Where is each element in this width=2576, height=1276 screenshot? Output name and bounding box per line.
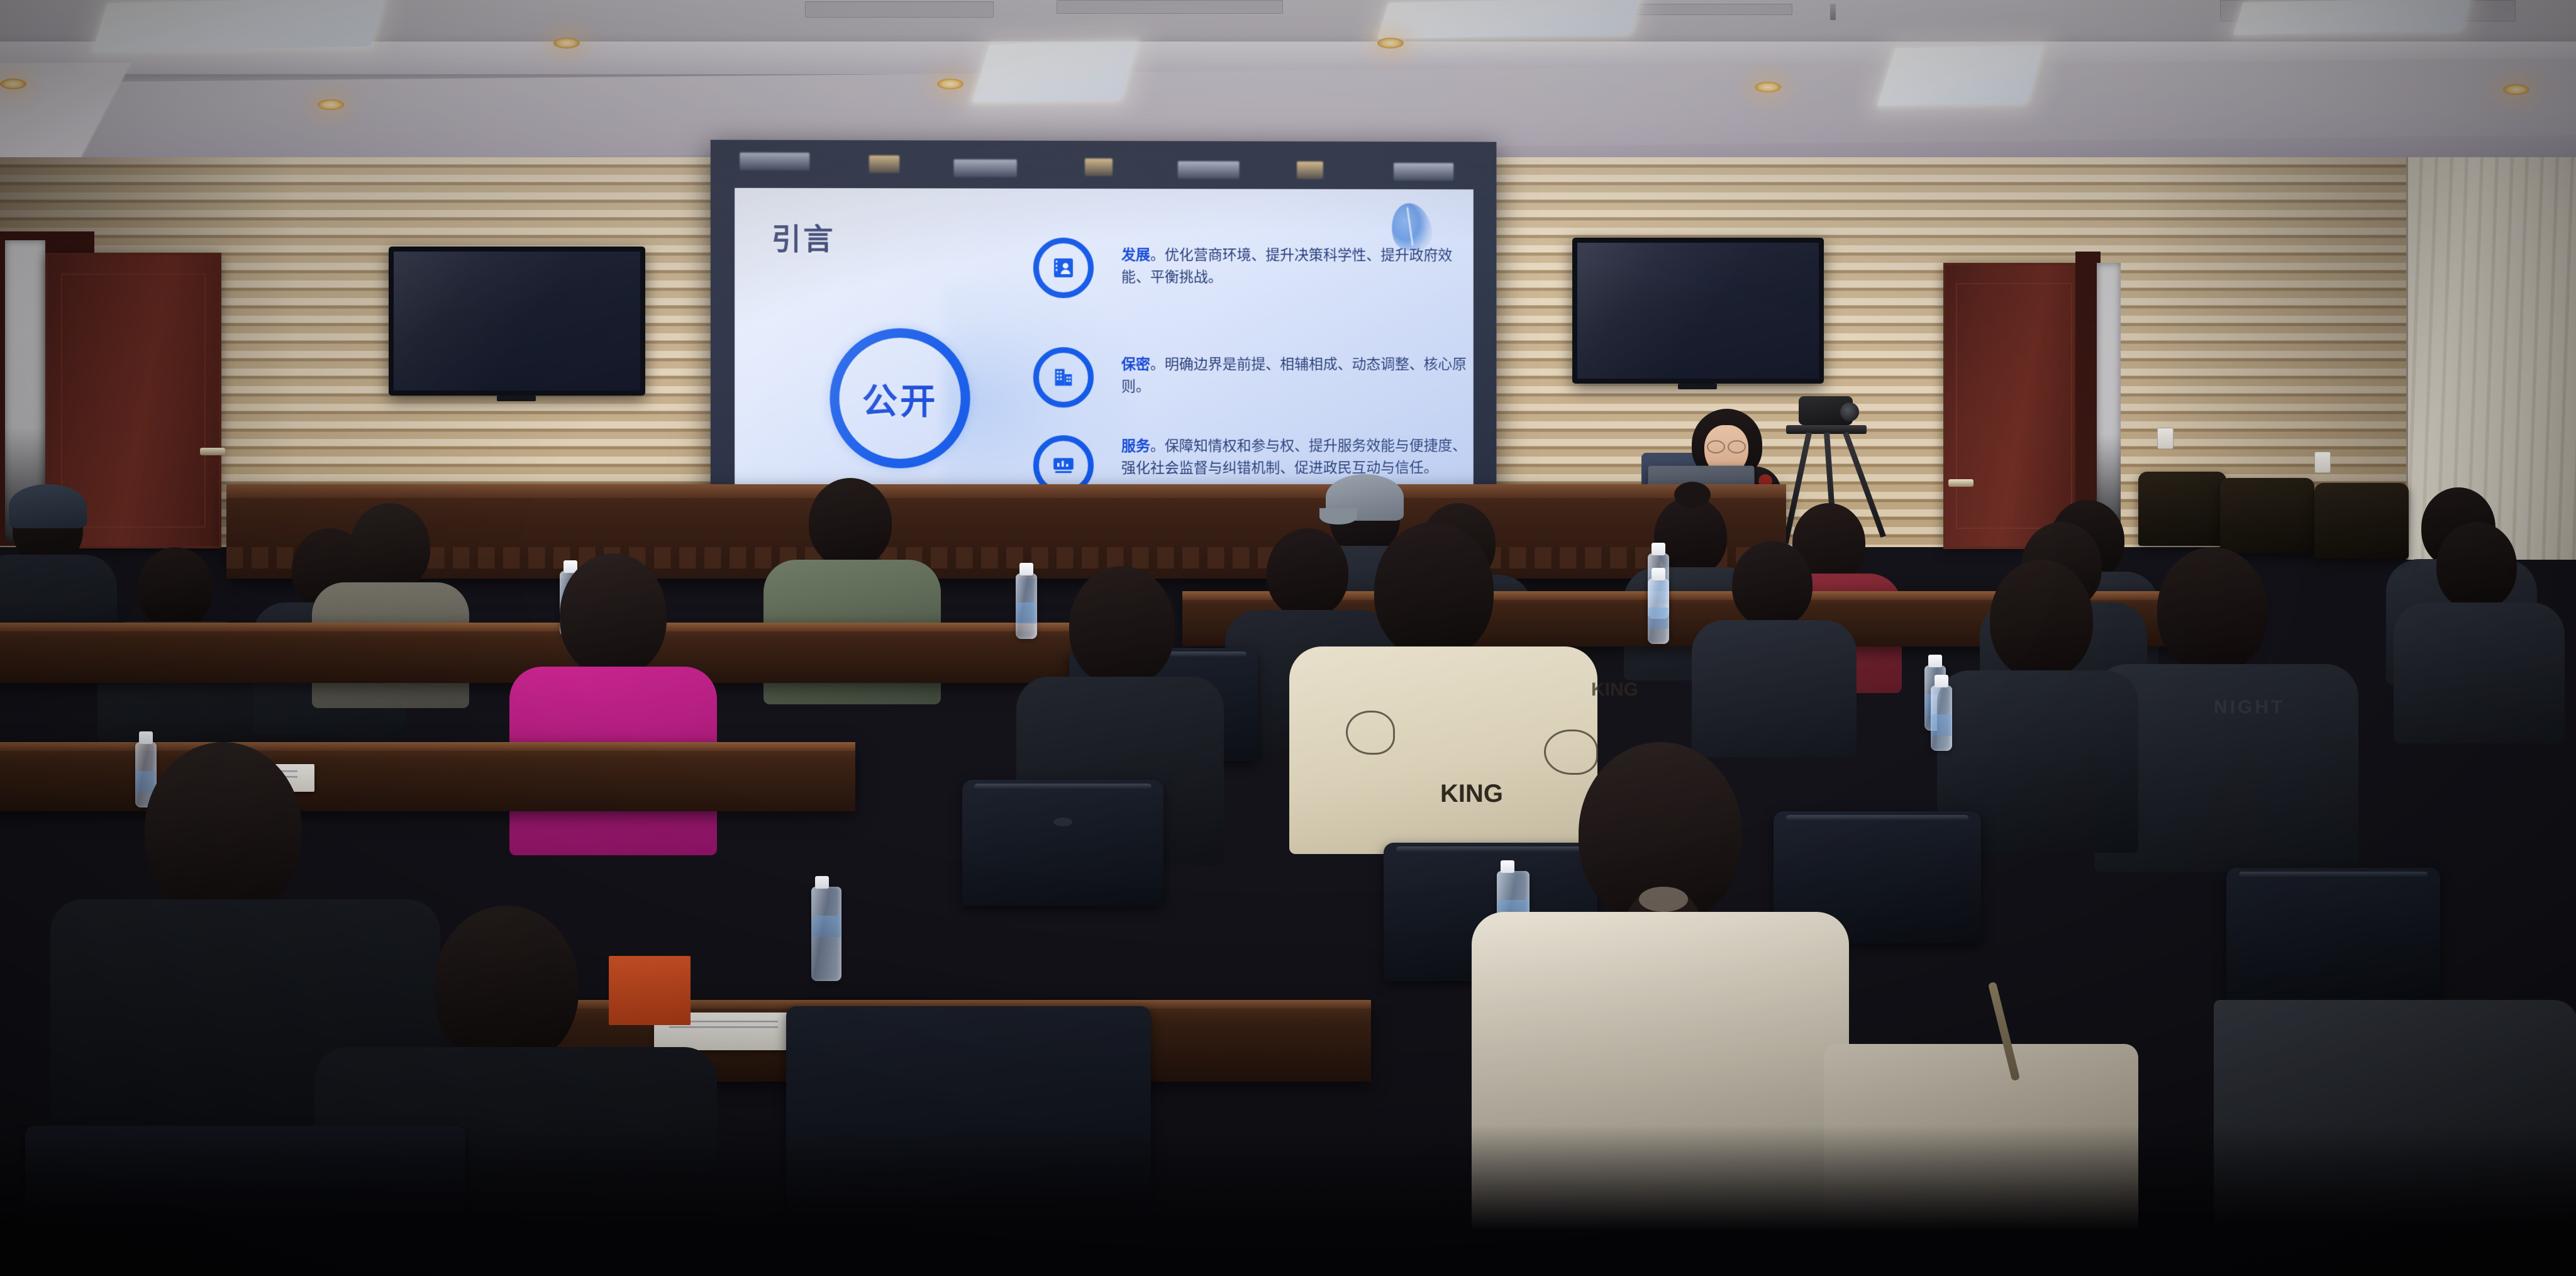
monitor-chart-icon [1051,453,1076,478]
bottle-label [1648,607,1668,629]
leather-chair-right-2[interactable] [2220,478,2314,553]
frame-reflection-7 [1394,163,1453,180]
conference-room-scene: 引言 公开 发展。优化营商环境、提升决策科学性、提升政府效能、平衡挑战。 [0,0,2576,1276]
ceiling-panel-light-5 [2233,0,2471,35]
head [1267,528,1348,618]
head [1069,566,1175,687]
jacket-print-text-shoulder: KING [1591,679,1638,701]
frame-reflection-5 [1178,161,1240,179]
rostrum-top-edge [226,484,1786,498]
ceiling-downlight-3 [1755,82,1781,92]
central-hub-node: 公开 [830,328,970,469]
leather-chair-right-1[interactable] [2138,472,2226,546]
chair-highlight [1396,846,1584,852]
chair-highlight [1786,815,1968,821]
head [434,906,579,1066]
ceiling-downlight-4 [2503,84,2529,95]
ceiling-panel-light-1 [972,42,1138,103]
chair-highlight [974,784,1152,789]
chair-f4[interactable] [2226,868,2440,1006]
jacket-print-text-main: KING [1440,780,1503,808]
ceiling-downlight-2 [937,79,963,89]
water-bottle-5[interactable] [1648,579,1669,644]
chair-highlight [2239,872,2427,877]
head [1732,541,1813,628]
ceiling-panel-light-3 [92,0,386,52]
slide-row-1-keyword: 发展 [1121,247,1150,263]
frame-reflection-4 [1085,158,1113,176]
doorway-gap-right [2097,263,2121,540]
head [145,742,302,918]
cap-brim [1319,508,1357,524]
desk-row-1 [0,742,855,811]
hair-tie [1639,887,1688,912]
display-glare-left [394,252,640,391]
slide-node-2 [1033,347,1094,408]
eyeglasses-icon [1707,440,1746,451]
ceiling-upper-slab [0,0,2576,45]
camera-lens-icon [1840,402,1859,421]
water-bottle-7[interactable] [1931,685,1952,751]
slide-node-1 [1033,238,1094,298]
slide-row-3-keyword: 服务 [1121,438,1150,454]
desk-edge [0,742,855,751]
floor-shadow [0,1125,2576,1276]
front-rostrum-desk [226,484,1786,579]
head [809,478,892,567]
jacket-print-text-right: NIGHT [2214,697,2285,718]
slide-row-1-text: 发展。优化营商环境、提升决策科学性、提升政府效能、平衡挑战。 [1121,244,1472,288]
bottle-label [1016,602,1036,624]
ceiling-vent-mid [1057,0,1283,14]
lion-graphic-left [1346,711,1395,755]
wall-display-right [1572,238,1824,384]
frame-reflection-1 [740,153,809,170]
slide-title: 引言 [772,214,835,258]
water-bottle-8[interactable] [811,887,841,981]
presentation-slide: 引言 公开 发展。优化营商环境、提升决策科学性、提升政府效能、平衡挑战。 [735,188,1474,514]
wall-display-right-mount [1678,384,1717,389]
ceiling-downlight-1 [318,99,344,110]
rostrum-carving [226,547,1786,569]
leather-chair-right-3[interactable] [2314,483,2409,558]
sprinkler-head [1830,4,1836,20]
ceiling-downlight-6 [1377,38,1404,48]
head [560,553,667,677]
cap-icon [9,484,87,528]
hair-bun [1674,482,1711,508]
ceiling-panel-light-4 [1377,0,1641,39]
water-bottle-4[interactable] [1016,574,1037,639]
building-icon [1051,365,1076,390]
slide-row-2-body: 。明确边界是前提、相辅相成、动态调整、核心原则。 [1121,356,1467,394]
slide-row-2-text: 保密。明确边界是前提、相辅相成、动态调整、核心原则。 [1121,353,1472,397]
head [2436,522,2517,610]
frame-reflection-2 [869,155,899,173]
chair-button [1053,818,1072,826]
door-right[interactable] [1943,263,2085,549]
orange-folder [609,956,691,1025]
light-switch-right[interactable] [2157,428,2173,449]
slide-row-3-body: 。保障知情权和参与权、提升服务效能与便捷度、强化社会监督与纠错机制、促进政民互动… [1121,437,1467,476]
projection-screen-frame: 引言 公开 发展。优化营商环境、提升决策科学性、提升政府效能、平衡挑战。 [711,140,1497,528]
slide-row-2-keyword: 保密 [1121,356,1150,372]
bottle-label [1931,714,1951,736]
door-handle-left[interactable] [200,448,225,455]
head [1374,522,1494,659]
ceiling-downlight-5 [0,79,26,89]
light-switch-far-right[interactable] [2314,452,2331,473]
torso [1692,620,1857,757]
door-handle-right[interactable] [1948,479,1974,487]
wall-display-left-mount [497,396,536,401]
frame-reflection-3 [954,159,1017,177]
wall-display-left [389,247,645,396]
central-hub-label: 公开 [862,373,938,424]
slide-row-3-text: 服务。保障知情权和参与权、提升服务效能与便捷度、强化社会监督与纠错机制、促进政民… [1121,435,1472,479]
head [1990,560,2093,679]
lion-graphic-right [1544,730,1598,775]
ceiling-vent-left [805,1,994,18]
ceiling-panel-light-2 [1877,45,2044,106]
head [138,547,213,629]
torso [2394,602,2565,743]
head [2157,547,2268,673]
head [350,503,430,591]
frame-reflection-6 [1297,162,1323,179]
display-glare-right [1577,243,1819,379]
bottle-label [812,916,841,937]
contact-card-icon [1051,255,1076,280]
chair-f1[interactable] [962,780,1163,906]
ceiling-downlight-7 [553,38,580,48]
slide-row-1-body: 。优化营商环境、提升决策科学性、提升政府效能、平衡挑战。 [1121,247,1452,285]
